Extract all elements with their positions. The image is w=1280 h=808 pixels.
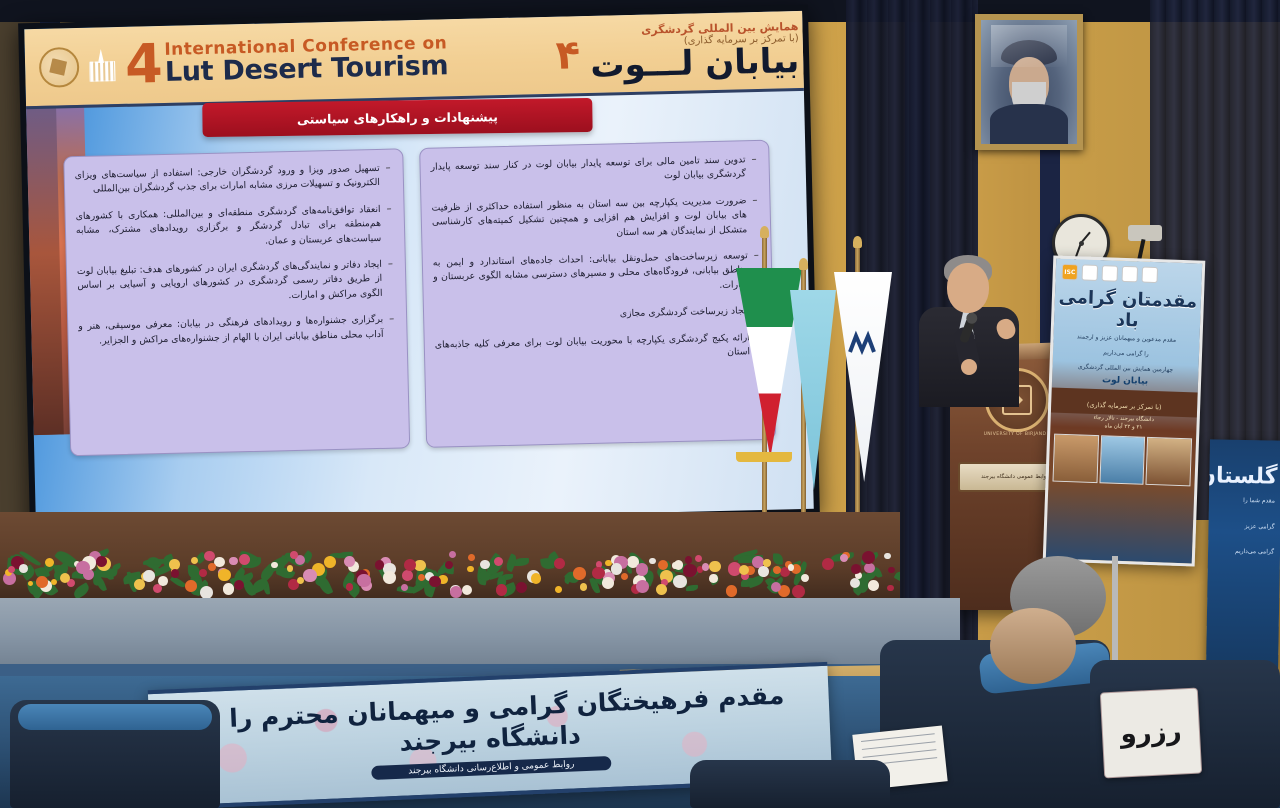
flower: [462, 585, 473, 596]
secondary-banner-line3: گرامی می‌داریم: [1208, 539, 1280, 566]
speaker-figure: [905, 255, 1023, 405]
leaf: [143, 559, 166, 565]
secondary-banner-line2: گرامی عزیز: [1208, 513, 1280, 540]
flower: [656, 584, 668, 596]
flower: [214, 557, 224, 567]
flower: [45, 558, 54, 567]
slide-bullet: –تسهیل صدور ویزا و ورود گردشگران خارجی: …: [75, 162, 392, 198]
bullet-marker: –: [388, 258, 394, 301]
poster-photo-1: [1053, 433, 1099, 483]
bullet-text: ایجاد زیرساخت گردشگری مجازی: [620, 304, 750, 321]
flag-finial-blue: [799, 258, 808, 270]
flower: [763, 559, 770, 566]
flower: [822, 558, 834, 570]
poster-band-text: (با تمرکز بر سرمایه گذاری): [1087, 401, 1162, 412]
slide-header-banner: 4 International Conference on Lut Desert…: [24, 11, 814, 109]
flower: [429, 576, 440, 587]
flower: [792, 585, 805, 598]
reserved-sign-text: رزرو: [1120, 716, 1183, 749]
screenshot-root: 4 International Conference on Lut Desert…: [0, 0, 1280, 808]
bullet-marker: –: [386, 202, 392, 245]
audience-chair-left-trim: [18, 704, 212, 730]
flower: [611, 563, 623, 575]
flower: [868, 580, 879, 591]
flower: [134, 579, 145, 590]
bullet-marker: –: [751, 153, 757, 182]
projection-screen: 4 International Conference on Lut Desert…: [18, 5, 820, 533]
flower: [199, 569, 207, 577]
secondary-banner: گلستان مقدم شما را گرامی عزیز گرامی می‌د…: [1206, 439, 1280, 670]
flower: [636, 580, 649, 593]
flower: [375, 560, 384, 569]
poster-logo-4-icon: [1122, 266, 1139, 283]
flower: [554, 558, 565, 569]
flower: [204, 551, 214, 561]
floral-arrangement: [0, 548, 900, 604]
slide-bullet: –ضرورت مدیریت یکپارچه بین سه استان به من…: [431, 194, 758, 245]
reserved-sign: رزرو: [1100, 687, 1202, 778]
flower: [531, 573, 542, 584]
flower: [223, 583, 235, 595]
flower: [297, 577, 304, 584]
secondary-banner-headline: گلستان: [1209, 439, 1280, 488]
flower: [864, 563, 875, 574]
flower: [191, 557, 198, 564]
flower: [76, 561, 89, 574]
audience-chair-far-left: [690, 760, 890, 808]
bullet-text: تسهیل صدور ویزا و ورود گردشگران خارجی: ا…: [75, 162, 381, 198]
bullet-marker: –: [752, 194, 758, 237]
bullet-text: تدوین سند تامین مالی برای توسعه پایدار ب…: [430, 153, 746, 189]
leaf: [773, 553, 783, 565]
slide-english-line2: Lut Desert Tourism: [165, 52, 449, 87]
bullet-text: ایجاد دفاتر و نمایندگی‌های گردشگری ایران…: [77, 258, 383, 308]
flower: [580, 583, 588, 591]
podium-nameplate-text: روابط عمومی دانشگاه بیرجند: [981, 474, 1049, 480]
slide-edition-number: 4: [125, 40, 162, 89]
flower: [636, 563, 649, 576]
flower: [862, 551, 875, 564]
flower: [402, 570, 413, 581]
flower: [153, 584, 162, 593]
slide-persian-number: ۴: [555, 32, 580, 79]
leaf: [316, 574, 333, 596]
flower: [709, 574, 717, 582]
flower: [445, 561, 453, 569]
leaf: [894, 569, 900, 586]
poster-photo-2: [1099, 435, 1145, 485]
flower: [418, 574, 425, 581]
flower: [683, 564, 696, 577]
flower: [208, 563, 216, 571]
flower: [19, 564, 28, 573]
bullet-text: ضرورت مدیریت یکپارچه بین سه استان به منظ…: [431, 194, 747, 245]
bullet-text: انعقاد توافق‌نامه‌های گردشگری منطقه‌ای و…: [76, 203, 382, 253]
poster-headline: مقدمتان گرامی باد: [1054, 287, 1201, 334]
poster-logo-row: ISC: [1055, 259, 1202, 290]
flower: [468, 554, 475, 561]
leaf: [72, 582, 91, 599]
poster-image-row: [1048, 429, 1196, 490]
flower: [758, 566, 769, 577]
poster-stand: [1112, 556, 1118, 676]
slide-right-panel: –تدوین سند تامین مالی برای توسعه پایدار …: [419, 140, 776, 448]
book-logo-icon: [87, 49, 116, 84]
leaf: [686, 585, 698, 591]
flower: [229, 557, 238, 566]
welcome-poster: ISC مقدمتان گرامی باد مقدم مدعوین و میهم…: [1043, 255, 1206, 566]
flower: [467, 566, 473, 572]
flower: [234, 580, 244, 590]
flower: [884, 553, 891, 560]
flower: [702, 563, 710, 571]
poster-logo-5-icon: [1141, 267, 1158, 284]
flower: [888, 567, 895, 574]
flower: [185, 580, 197, 592]
poster-logo-2-icon: [1082, 264, 1099, 281]
leaf: [188, 565, 200, 579]
slide-bullet: –ارائه پکیج گردشگری یکپارچه با محوریت بی…: [435, 331, 762, 367]
presentation-slide: 4 International Conference on Lut Desert…: [24, 11, 814, 527]
bullet-marker: –: [385, 162, 391, 191]
flower: [401, 584, 408, 591]
framed-portrait: [975, 14, 1083, 150]
bullet-marker: –: [389, 313, 395, 342]
slide-bullet: –ایجاد دفاتر و نمایندگی‌های گردشگری ایرا…: [77, 258, 394, 309]
flower: [621, 573, 628, 580]
slide-title-text: پیشنهادات و راهکارهای سیاستی: [297, 109, 498, 127]
flower: [450, 586, 462, 598]
secondary-banner-line1: مقدم شما را: [1209, 487, 1280, 514]
conference-seal-icon: [39, 46, 80, 87]
slide-title-bar: پیشنهادات و راهکارهای سیاستی: [202, 98, 592, 137]
flower: [200, 586, 213, 599]
flower: [449, 551, 456, 558]
flower: [801, 574, 809, 582]
flag-finial-iran: [760, 226, 769, 238]
flower: [480, 560, 489, 569]
flower: [346, 583, 354, 591]
flower: [287, 565, 294, 572]
slide-bullet: –ایجاد زیرساخت گردشگری مجازی: [434, 304, 760, 326]
iran-flag-fringe: [736, 452, 792, 462]
flower: [303, 569, 316, 582]
flower: [496, 584, 507, 595]
flower: [218, 569, 230, 581]
flower: [96, 556, 107, 567]
audience-head-front: [990, 608, 1076, 684]
flower: [404, 559, 416, 571]
flower: [171, 569, 179, 577]
flower: [592, 567, 604, 579]
bullet-text: ارائه پکیج گردشگری یکپارچه با محوریت بیا…: [435, 331, 751, 367]
bullet-text: توسعه زیرساخت‌های حمل‌ونقل بیابانی: احدا…: [433, 249, 749, 300]
slide-bullet: –انعقاد توافق‌نامه‌های گردشگری منطقه‌ای …: [76, 202, 393, 253]
flag-finial-white: [853, 236, 862, 248]
flower: [143, 570, 155, 582]
flower: [840, 554, 848, 562]
flower: [555, 586, 562, 593]
slide-left-panel: –تسهیل صدور ویزا و ورود گردشگران خارجی: …: [63, 148, 410, 456]
flower: [324, 556, 336, 568]
slide-bullet: –توسعه زیرساخت‌های حمل‌ونقل بیابانی: احد…: [433, 249, 760, 300]
slide-persian-title: بیابان لـــوت: [590, 44, 800, 83]
security-camera-icon: [1128, 225, 1162, 241]
flower: [726, 585, 738, 597]
flower: [709, 561, 721, 573]
flower: [685, 556, 692, 563]
flower: [788, 564, 795, 571]
university-flag-emblem: [846, 330, 878, 362]
flower: [573, 567, 586, 580]
university-seal-label: UNIVERSITY OF BIRJAND: [978, 432, 1052, 437]
isc-logo-icon: ISC: [1062, 264, 1079, 281]
slide-bullet: –برگزاری جشنواره‌ها و رویدادهای فرهنگی د…: [78, 313, 395, 349]
poster-photo-3: [1146, 436, 1192, 486]
flower: [169, 559, 180, 570]
bullet-text: برگزاری جشنواره‌ها و رویدادهای فرهنگی در…: [78, 313, 384, 349]
flower: [887, 585, 894, 592]
flower: [383, 571, 396, 584]
flower: [649, 558, 656, 565]
flower: [851, 564, 861, 574]
flower: [695, 555, 702, 562]
flower: [602, 577, 614, 589]
slide-bullet: –تدوین سند تامین مالی برای توسعه پایدار …: [430, 153, 757, 189]
flower: [290, 551, 298, 559]
flower: [516, 582, 527, 593]
poster-logo-3-icon: [1102, 265, 1119, 282]
